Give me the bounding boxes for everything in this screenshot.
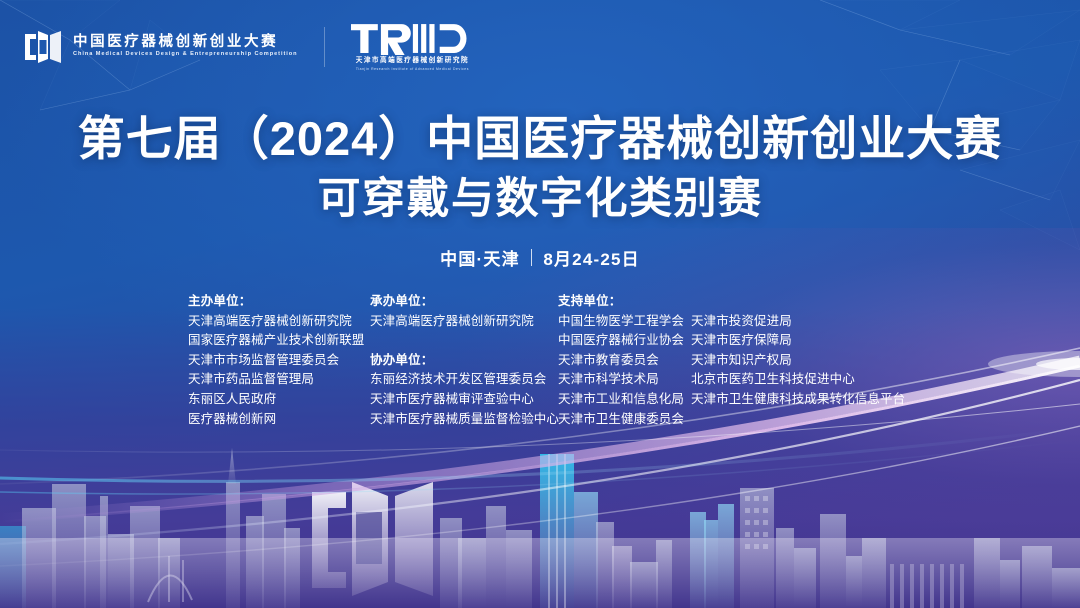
competition-logo: 中国医疗器械创新创业大赛 China Medical Devices Desig… <box>22 27 298 67</box>
organizers-block: 主办单位： 天津高端医疗器械创新研究院 国家医疗器械产业技术创新联盟 天津市市场… <box>188 292 905 429</box>
list-item: 医疗器械创新网 <box>188 410 370 430</box>
event-location: 中国·天津 <box>440 245 520 270</box>
column-spacer <box>691 292 905 312</box>
list-item: 天津高端医疗器械创新研究院 <box>370 312 558 332</box>
competition-logo-text: 中国医疗器械创新创业大赛 China Medical Devices Desig… <box>73 35 298 57</box>
list-item: 天津市药品监督管理局 <box>188 370 370 390</box>
supporter-heading: 支持单位： <box>558 292 691 312</box>
list-item: 天津市知识产权局 <box>691 351 905 371</box>
event-meta: 中国·天津 8月24-25日 <box>0 245 1080 270</box>
organizers-column-host: 主办单位： 天津高端医疗器械创新研究院 国家医疗器械产业技术创新联盟 天津市市场… <box>188 292 370 429</box>
list-item: 天津市医疗器械质量监督检验中心 <box>370 410 558 430</box>
institute-logo: 天津市高端医疗器械创新研究院 Tianjin Research Institut… <box>351 22 475 71</box>
list-item: 天津高端医疗器械创新研究院 <box>188 312 370 332</box>
competition-name-cn: 中国医疗器械创新创业大赛 <box>73 35 298 50</box>
institute-name-cn: 天津市高端医疗器械创新研究院 <box>356 58 469 65</box>
title-block: 第七届（2024）中国医疗器械创新创业大赛 可穿戴与数字化类别赛 中国·天津 8… <box>0 112 1080 270</box>
list-item: 国家医疗器械产业技术创新联盟 <box>188 331 370 351</box>
list-item: 天津市科学技术局 <box>558 370 691 390</box>
list-item: 天津市教育委员会 <box>558 351 691 371</box>
host-heading: 主办单位： <box>188 292 370 312</box>
list-item: 天津市工业和信息化局 <box>558 390 691 410</box>
list-item: 天津市卫生健康科技成果转化信息平台 <box>691 390 905 410</box>
page-title: 第七届（2024）中国医疗器械创新创业大赛 <box>0 112 1080 167</box>
event-poster: 中国医疗器械创新创业大赛 China Medical Devices Desig… <box>0 0 1080 608</box>
header-divider <box>324 27 325 67</box>
coorganizer-heading: 协办单位： <box>370 351 558 371</box>
header-logos: 中国医疗器械创新创业大赛 China Medical Devices Desig… <box>22 22 474 71</box>
list-item: 天津市投资促进局 <box>691 312 905 332</box>
list-item: 天津市市场监督管理委员会 <box>188 351 370 371</box>
organizers-column-undertaker: 承办单位： 天津高端医疗器械创新研究院 协办单位： 东丽经济技术开发区管理委员会… <box>370 292 558 429</box>
list-item: 东丽区人民政府 <box>188 390 370 410</box>
list-item: 天津市医疗保障局 <box>691 331 905 351</box>
list-item: 天津市卫生健康委员会 <box>558 410 691 430</box>
organizers-column-supporter-left: 支持单位： 中国生物医学工程学会 中国医疗器械行业协会 天津市教育委员会 天津市… <box>558 292 691 429</box>
list-item: 中国医疗器械行业协会 <box>558 331 691 351</box>
page-subtitle: 可穿戴与数字化类别赛 <box>0 175 1080 225</box>
list-item: 东丽经济技术开发区管理委员会 <box>370 370 558 390</box>
meta-separator <box>531 249 533 266</box>
trmd-wordmark-icon <box>351 22 475 55</box>
event-date: 8月24-25日 <box>543 245 640 270</box>
institute-name-en: Tianjin Research Institute of Advanced M… <box>356 68 469 71</box>
open-door-book-logo-icon <box>22 27 64 67</box>
organizers-column-supporter-right: 天津市投资促进局 天津市医疗保障局 天津市知识产权局 北京市医药卫生科技促进中心… <box>691 292 905 410</box>
competition-name-en: China Medical Devices Design & Entrepren… <box>73 52 298 58</box>
undertaker-heading: 承办单位： <box>370 292 558 312</box>
list-item: 北京市医药卫生科技促进中心 <box>691 370 905 390</box>
column-spacer <box>370 331 558 351</box>
list-item: 中国生物医学工程学会 <box>558 312 691 332</box>
list-item: 天津市医疗器械审评查验中心 <box>370 390 558 410</box>
